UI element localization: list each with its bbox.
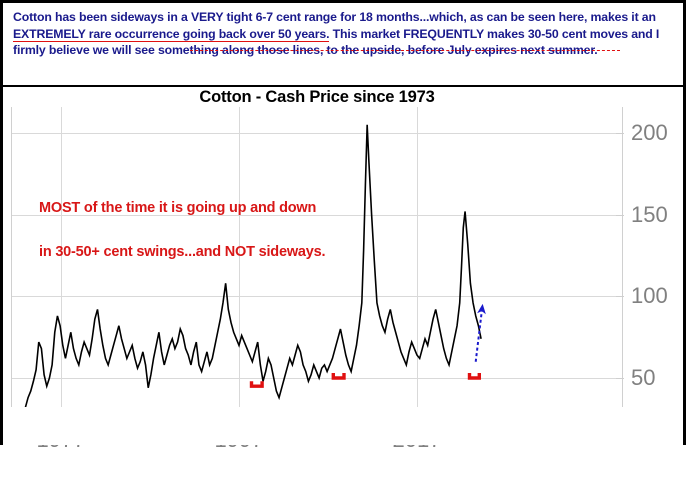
red-bracket-2 (333, 373, 344, 378)
commentary-text: Cotton has been sideways in a VERY tight… (13, 9, 675, 59)
chart-annotation-text: MOST of the time it is going up and down… (39, 175, 325, 285)
x-axis-band (3, 407, 683, 445)
commentary-line2-part3: rare occurrence going back over 50 years… (85, 27, 329, 42)
chart-title: Cotton - Cash Price since 1973 (11, 88, 623, 107)
red-dashed-underline (190, 50, 620, 51)
ytick-label-150: 150 (631, 204, 668, 226)
commentary-line1-part3: tight 6-7 cent range for 18 months...whi… (223, 10, 524, 24)
commentary-header: Cotton has been sideways in a VERY tight… (3, 3, 683, 87)
ytick-label-200: 200 (631, 122, 668, 144)
ytick-label-100: 100 (631, 285, 668, 307)
red-bracket-3 (470, 373, 480, 378)
annotation-line-2: in 30-50+ cent swings...and NOT sideways… (39, 241, 325, 263)
commentary-line1-part1: Cotton has been sideways in a (13, 10, 191, 24)
red-bracket-1 (252, 381, 263, 386)
commentary-very-emphasis: VERY (191, 10, 223, 24)
ytick-label-50: 50 (631, 367, 655, 389)
screenshot-root: Cotton has been sideways in a VERY tight… (0, 0, 686, 445)
commentary-line2-part4: This market (329, 27, 400, 41)
commentary-line2-part1: seen here, makes it an (528, 10, 656, 24)
commentary-extremely-emphasis: EXTREMELY (13, 27, 85, 42)
annotation-line-1: MOST of the time it is going up and down (39, 197, 325, 219)
chart-container: Cotton - Cash Price since 1973 200 (3, 87, 683, 445)
